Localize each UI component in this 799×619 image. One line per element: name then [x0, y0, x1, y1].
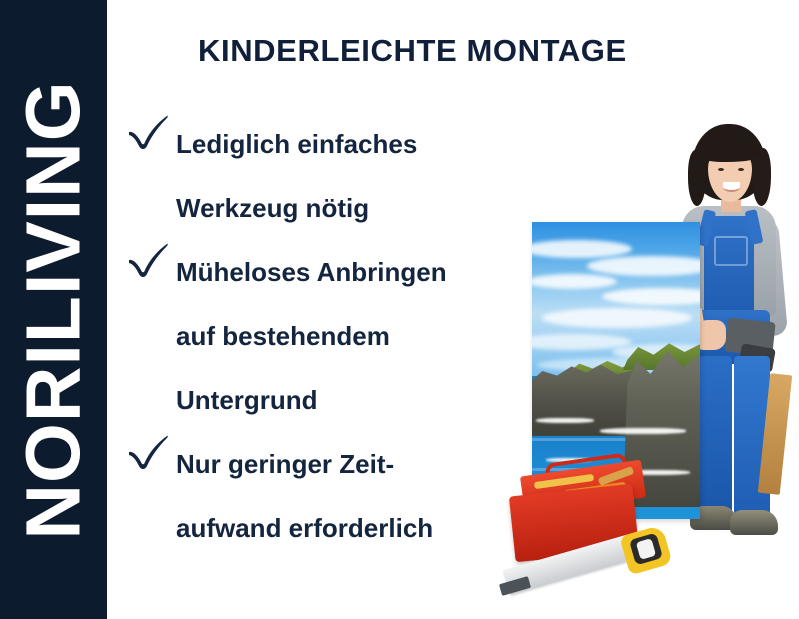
list-item-line: auf bestehendem — [176, 304, 526, 368]
brand-sidebar: NORILIVING — [0, 0, 107, 619]
shoe-right — [730, 510, 778, 535]
list-item: Müheloses Anbringen auf bestehendem Unte… — [126, 240, 526, 432]
mouth — [723, 182, 740, 192]
list-item: Nur geringer Zeit- aufwand erforderlich — [126, 432, 526, 560]
promo-poster: NORILIVING KINDERLEICHTE MONTAGE Ledigli… — [0, 0, 799, 619]
brand-name: NORILIVING — [15, 80, 92, 539]
eye-right — [738, 168, 744, 171]
hair-fringe — [700, 138, 760, 162]
feature-list: Lediglich einfaches Werkzeug nötig Mühel… — [126, 112, 526, 560]
page-title: KINDERLEICHTE MONTAGE — [198, 33, 627, 69]
list-item-line: Lediglich einfaches — [176, 112, 526, 176]
product-photo — [490, 110, 799, 610]
list-item-line: Werkzeug nötig — [176, 176, 526, 240]
handsaw — [500, 522, 682, 608]
list-item-line: Müheloses Anbringen — [176, 240, 526, 304]
checkmark-icon — [126, 240, 170, 280]
bib-pocket — [714, 236, 748, 266]
checkmark-icon — [126, 112, 170, 152]
list-item-line: Nur geringer Zeit- — [176, 432, 526, 496]
overall-bib — [704, 216, 754, 320]
checkmark-icon — [126, 432, 170, 472]
leg-left — [698, 356, 732, 512]
eye-left — [718, 168, 724, 171]
list-item-line: aufwand erforderlich — [176, 496, 526, 560]
list-item-line: Untergrund — [176, 368, 526, 432]
list-item: Lediglich einfaches Werkzeug nötig — [126, 112, 526, 240]
